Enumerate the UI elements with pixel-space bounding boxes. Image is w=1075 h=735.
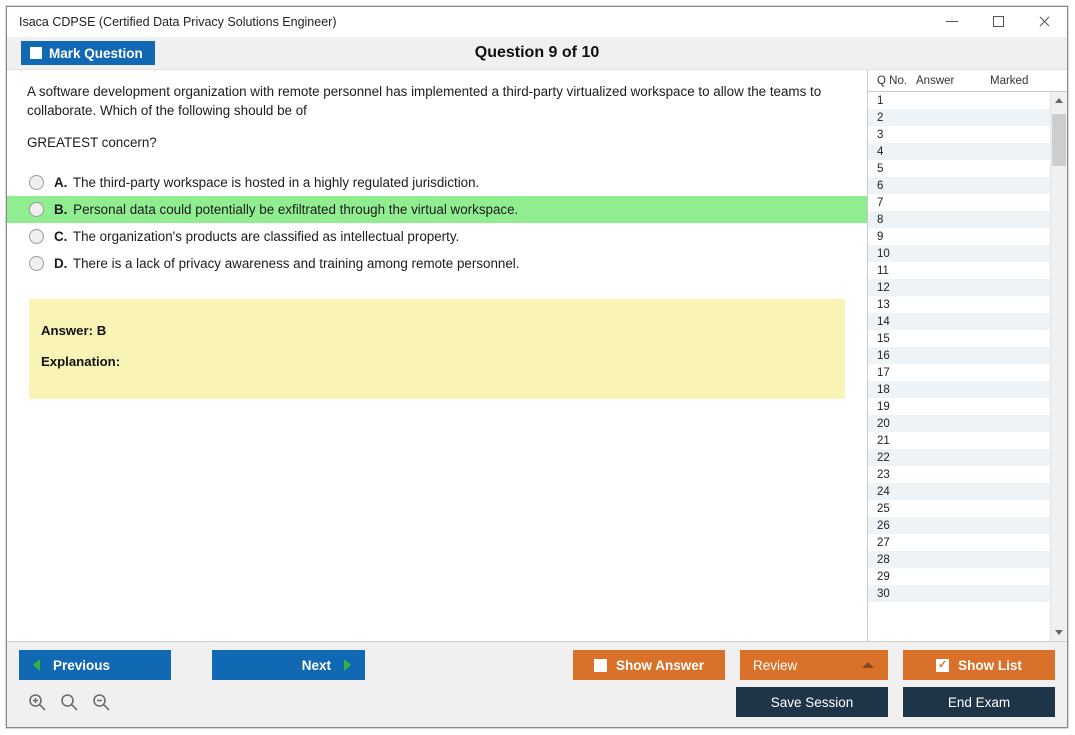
cell-qno: 18 (868, 384, 916, 396)
explanation-line: Explanation: (41, 354, 845, 369)
question-list-scrollbar[interactable] (1050, 92, 1067, 641)
footer-row-secondary: Save Session End Exam (19, 687, 1055, 717)
review-dropdown-button[interactable]: Review (740, 650, 888, 680)
chevron-left-icon (33, 659, 40, 671)
maximize-button[interactable] (975, 7, 1021, 37)
maximize-icon (993, 16, 1004, 27)
cell-qno: 30 (868, 588, 916, 600)
review-label: Review (753, 658, 797, 673)
radio-icon[interactable] (29, 175, 44, 190)
show-list-button[interactable]: ✓ Show List (903, 650, 1055, 680)
option-letter: C. (54, 229, 67, 244)
mark-question-checkbox-icon (30, 47, 42, 59)
question-content-area: A software development organization with… (7, 70, 867, 641)
cell-qno: 12 (868, 282, 916, 294)
question-list-panel: Q No. Answer Marked 12345678910111213141… (867, 70, 1067, 641)
question-list-row[interactable]: 3 (868, 126, 1050, 143)
previous-label: Previous (53, 658, 110, 673)
question-list-row[interactable]: 28 (868, 551, 1050, 568)
cell-qno: 27 (868, 537, 916, 549)
answer-options-list: A. The third-party workspace is hosted i… (7, 169, 867, 277)
cell-qno: 29 (868, 571, 916, 583)
question-list-row[interactable]: 11 (868, 262, 1050, 279)
zoom-reset-icon[interactable] (59, 692, 79, 712)
cell-qno: 17 (868, 367, 916, 379)
answer-option-c[interactable]: C. The organization's products are class… (7, 223, 867, 250)
cell-qno: 3 (868, 129, 916, 141)
minimize-button[interactable] (929, 7, 975, 37)
option-text: The organization's products are classifi… (73, 229, 459, 244)
end-exam-label: End Exam (948, 695, 1010, 710)
question-list-row[interactable]: 9 (868, 228, 1050, 245)
cell-qno: 20 (868, 418, 916, 430)
question-list-row[interactable]: 6 (868, 177, 1050, 194)
answer-option-d[interactable]: D. There is a lack of privacy awareness … (7, 250, 867, 277)
next-label: Next (302, 658, 331, 673)
cell-qno: 4 (868, 146, 916, 158)
cell-qno: 14 (868, 316, 916, 328)
question-list-row[interactable]: 22 (868, 449, 1050, 466)
cell-qno: 8 (868, 214, 916, 226)
footer-toolbar: Previous Next Show Answer Review ✓ Show … (7, 641, 1067, 727)
question-list-row[interactable]: 14 (868, 313, 1050, 330)
caret-up-icon (862, 662, 874, 668)
cell-qno: 26 (868, 520, 916, 532)
question-list-row[interactable]: 27 (868, 534, 1050, 551)
previous-button[interactable]: Previous (19, 650, 171, 680)
close-button[interactable] (1021, 7, 1067, 37)
radio-icon[interactable] (29, 229, 44, 244)
answer-option-b[interactable]: B. Personal data could potentially be ex… (7, 196, 867, 223)
scrollbar-thumb[interactable] (1052, 114, 1066, 166)
question-list-row[interactable]: 16 (868, 347, 1050, 364)
cell-qno: 19 (868, 401, 916, 413)
end-exam-button[interactable]: End Exam (903, 687, 1055, 717)
question-header-bar: Mark Question Question 9 of 10 (7, 37, 1067, 70)
question-list-row[interactable]: 10 (868, 245, 1050, 262)
question-counter-title: Question 9 of 10 (7, 44, 1067, 62)
option-label: D. There is a lack of privacy awareness … (54, 256, 519, 271)
chevron-up-icon (1055, 98, 1063, 103)
option-text: The third-party workspace is hosted in a… (73, 175, 479, 190)
question-list-row[interactable]: 21 (868, 432, 1050, 449)
zoom-in-icon[interactable] (27, 692, 47, 712)
main-body: A software development organization with… (7, 70, 1067, 641)
zoom-out-icon[interactable] (91, 692, 111, 712)
radio-icon[interactable] (29, 202, 44, 217)
question-list-row[interactable]: 8 (868, 211, 1050, 228)
question-list-row[interactable]: 26 (868, 517, 1050, 534)
scroll-down-button[interactable] (1051, 624, 1067, 641)
question-list-body: 1234567891011121314151617181920212223242… (868, 92, 1067, 641)
show-list-label: Show List (958, 658, 1022, 673)
question-list-row[interactable]: 17 (868, 364, 1050, 381)
show-answer-button[interactable]: Show Answer (573, 650, 725, 680)
cell-qno: 15 (868, 333, 916, 345)
chevron-right-icon (344, 659, 351, 671)
option-text: Personal data could potentially be exfil… (73, 202, 518, 217)
show-list-checkbox-icon: ✓ (936, 659, 949, 672)
option-text: There is a lack of privacy awareness and… (73, 256, 520, 271)
answer-line: Answer: B (41, 323, 845, 338)
zoom-controls (19, 692, 111, 712)
answer-explanation-panel: Answer: B Explanation: (29, 299, 845, 399)
column-header-marked: Marked (990, 75, 1067, 87)
close-icon (1038, 15, 1051, 28)
option-label: B. Personal data could potentially be ex… (54, 202, 518, 217)
option-letter: A. (54, 175, 67, 190)
mark-question-button[interactable]: Mark Question (21, 41, 155, 65)
chevron-down-icon (1055, 630, 1063, 635)
question-list-row[interactable]: 7 (868, 194, 1050, 211)
question-list-row[interactable]: 30 (868, 585, 1050, 602)
cell-qno: 24 (868, 486, 916, 498)
cell-qno: 6 (868, 180, 916, 192)
cell-qno: 16 (868, 350, 916, 362)
next-button[interactable]: Next (212, 650, 365, 680)
question-text: A software development organization with… (7, 70, 867, 153)
question-list-row[interactable]: 25 (868, 500, 1050, 517)
option-label: A. The third-party workspace is hosted i… (54, 175, 479, 190)
question-list-row[interactable]: 20 (868, 415, 1050, 432)
question-list-row[interactable]: 18 (868, 381, 1050, 398)
option-letter: B. (54, 202, 67, 217)
question-list-row[interactable]: 19 (868, 398, 1050, 415)
question-list-row[interactable]: 24 (868, 483, 1050, 500)
cell-qno: 22 (868, 452, 916, 464)
question-list-row[interactable]: 29 (868, 568, 1050, 585)
question-list-row[interactable]: 23 (868, 466, 1050, 483)
question-list-row[interactable]: 1 (868, 92, 1050, 109)
question-list-header: Q No. Answer Marked (868, 70, 1067, 92)
cell-qno: 5 (868, 163, 916, 175)
exam-window: Isaca CDPSE (Certified Data Privacy Solu… (6, 6, 1068, 728)
window-controls (929, 7, 1067, 37)
question-paragraph-1: A software development organization with… (27, 83, 847, 120)
window-title: Isaca CDPSE (Certified Data Privacy Solu… (7, 15, 929, 29)
question-list-row[interactable]: 4 (868, 143, 1050, 160)
cell-qno: 10 (868, 248, 916, 260)
question-paragraph-2: GREATEST concern? (27, 134, 847, 153)
cell-qno: 21 (868, 435, 916, 447)
cell-qno: 13 (868, 299, 916, 311)
column-header-qno: Q No. (868, 75, 916, 87)
cell-qno: 7 (868, 197, 916, 209)
show-answer-checkbox-icon (594, 659, 607, 672)
option-letter: D. (54, 256, 67, 271)
answer-option-a[interactable]: A. The third-party workspace is hosted i… (7, 169, 867, 196)
question-list-row[interactable]: 13 (868, 296, 1050, 313)
window-title-bar: Isaca CDPSE (Certified Data Privacy Solu… (7, 7, 1067, 37)
scroll-up-button[interactable] (1051, 92, 1067, 109)
footer-row-primary: Previous Next Show Answer Review ✓ Show … (19, 650, 1055, 680)
question-list-row[interactable]: 2 (868, 109, 1050, 126)
question-list-row[interactable]: 5 (868, 160, 1050, 177)
question-list-row[interactable]: 12 (868, 279, 1050, 296)
question-list-rows: 1234567891011121314151617181920212223242… (868, 92, 1050, 641)
cell-qno: 23 (868, 469, 916, 481)
question-list-row[interactable]: 15 (868, 330, 1050, 347)
cell-qno: 25 (868, 503, 916, 515)
cell-qno: 1 (868, 95, 916, 107)
save-session-label: Save Session (771, 695, 854, 710)
mark-question-label: Mark Question (49, 46, 143, 61)
radio-icon[interactable] (29, 256, 44, 271)
option-label: C. The organization's products are class… (54, 229, 459, 244)
save-session-button[interactable]: Save Session (736, 687, 888, 717)
cell-qno: 2 (868, 112, 916, 124)
cell-qno: 11 (868, 265, 916, 277)
column-header-answer: Answer (916, 75, 990, 87)
show-answer-label: Show Answer (616, 658, 704, 673)
minimize-icon (946, 21, 958, 22)
cell-qno: 28 (868, 554, 916, 566)
cell-qno: 9 (868, 231, 916, 243)
